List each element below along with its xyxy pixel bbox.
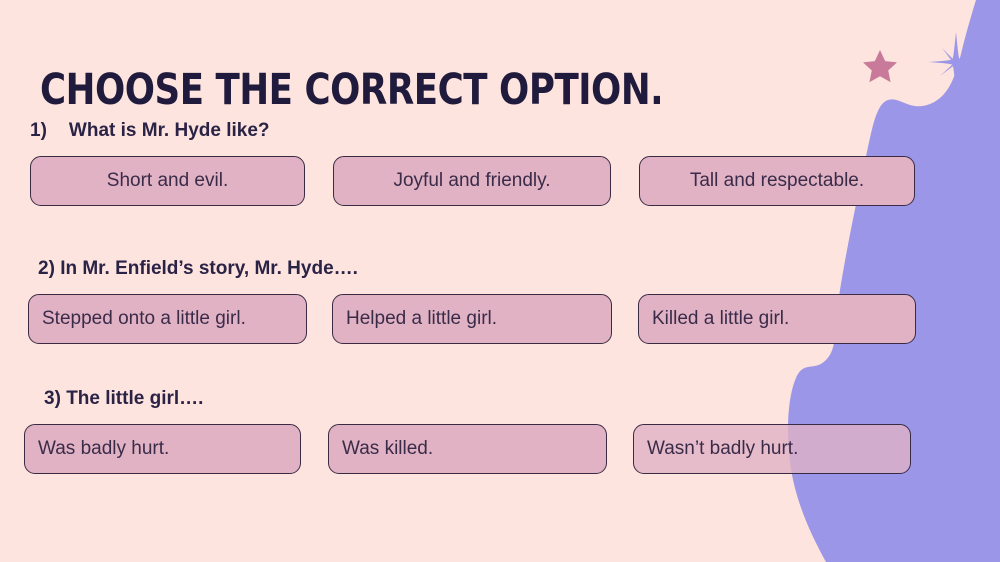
- option-button[interactable]: Short and evil.: [30, 156, 305, 206]
- sparkle-large-icon: [928, 32, 984, 92]
- star-pink-icon: [862, 48, 898, 84]
- question-block-2: 2) In Mr. Enfield’s story, Mr. Hyde…. St…: [0, 258, 1000, 346]
- page-title: CHOOSE THE CORRECT OPTION.: [40, 65, 663, 115]
- option-button[interactable]: Was badly hurt.: [24, 424, 301, 474]
- option-row-2: Stepped onto a little girl. Helped a lit…: [0, 294, 1000, 346]
- question-label-1: What is Mr. Hyde like?: [69, 120, 270, 141]
- question-number-3: 3): [44, 388, 61, 409]
- option-row-1: Short and evil. Joyful and friendly. Tal…: [0, 156, 1000, 208]
- question-label-2: In Mr. Enfield’s story, Mr. Hyde….: [60, 258, 358, 279]
- question-prompt-1: 1)What is Mr. Hyde like?: [30, 120, 1000, 142]
- option-button[interactable]: Stepped onto a little girl.: [28, 294, 307, 344]
- option-row-3: Was badly hurt. Was killed. Wasn’t badly…: [0, 424, 1000, 476]
- option-button[interactable]: Was killed.: [328, 424, 607, 474]
- question-number-1: 1): [30, 120, 47, 141]
- question-block-3: 3) The little girl…. Was badly hurt. Was…: [0, 388, 1000, 476]
- option-button[interactable]: Wasn’t badly hurt.: [633, 424, 911, 474]
- option-button[interactable]: Killed a little girl.: [638, 294, 916, 344]
- question-label-3: The little girl….: [66, 388, 203, 409]
- slide-canvas: CHOOSE THE CORRECT OPTION. 1)What is Mr.…: [0, 0, 1000, 562]
- question-prompt-2: 2) In Mr. Enfield’s story, Mr. Hyde….: [38, 258, 1000, 280]
- question-block-1: 1)What is Mr. Hyde like? Short and evil.…: [0, 120, 1000, 208]
- option-button[interactable]: Joyful and friendly.: [333, 156, 611, 206]
- question-prompt-3: 3) The little girl….: [44, 388, 1000, 410]
- option-button[interactable]: Tall and respectable.: [639, 156, 915, 206]
- option-button[interactable]: Helped a little girl.: [332, 294, 612, 344]
- question-number-2: 2): [38, 258, 55, 279]
